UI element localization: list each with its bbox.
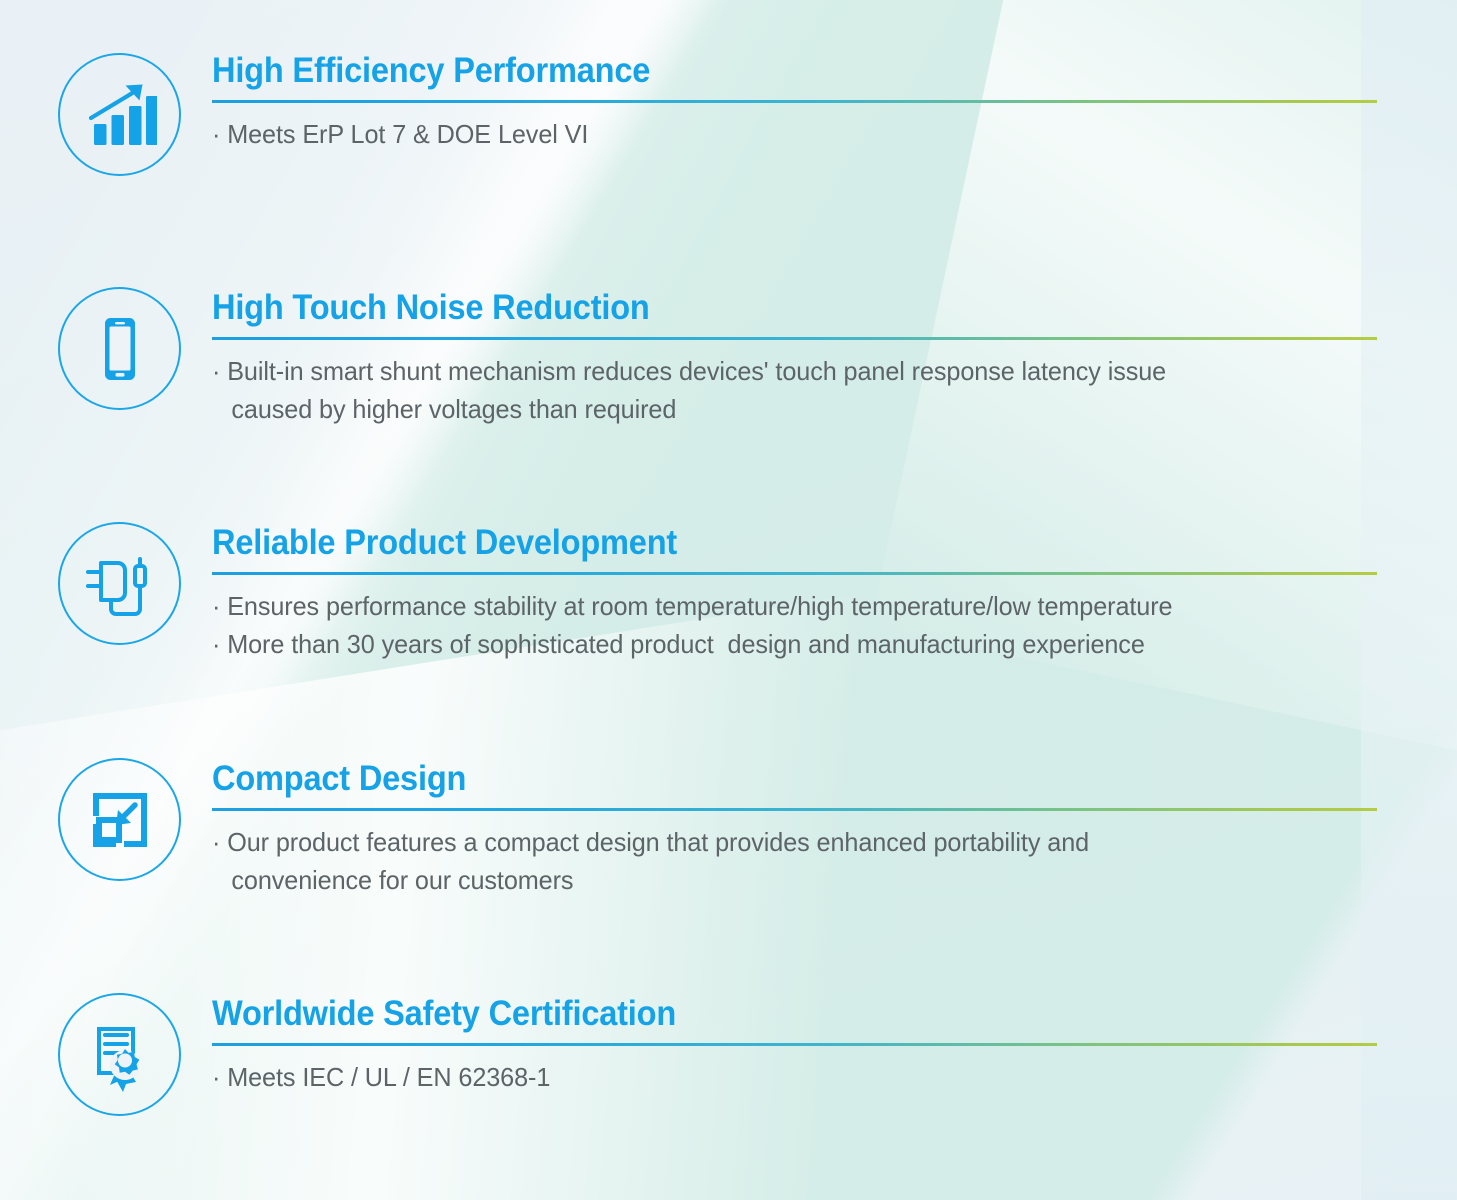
compact-resize-icon [58, 758, 181, 881]
feature-title: Compact Design [212, 758, 1295, 800]
feature-list: High Efficiency Performance · Meets ErP … [0, 0, 1457, 1200]
feature-description-line: · Our product features a compact design … [212, 823, 1342, 861]
feature-description-line: convenience for our customers [212, 861, 1342, 899]
feature-description-line: · More than 30 years of sophisticated pr… [212, 625, 1342, 663]
smartphone-icon [58, 287, 181, 410]
feature-description-line: · Ensures performance stability at room … [212, 587, 1342, 625]
feature-body: Compact Design · Our product features a … [212, 758, 1377, 899]
feature-description-line: · Meets IEC / UL / EN 62368-1 [212, 1058, 1342, 1096]
feature-description: · Our product features a compact design … [212, 823, 1342, 899]
feature-description: · Meets IEC / UL / EN 62368-1 [212, 1058, 1342, 1096]
feature-body: High Touch Noise Reduction · Built-in sm… [212, 287, 1377, 428]
feature-body: Reliable Product Development · Ensures p… [212, 522, 1377, 663]
feature-title: Worldwide Safety Certification [212, 993, 1295, 1035]
feature-description: · Built-in smart shunt mechanism reduces… [212, 352, 1342, 428]
feature-description: · Ensures performance stability at room … [212, 587, 1342, 663]
feature-body: High Efficiency Performance · Meets ErP … [212, 50, 1377, 153]
feature-divider [212, 100, 1377, 103]
feature-description: · Meets ErP Lot 7 & DOE Level VI [212, 115, 1342, 153]
feature-title: High Touch Noise Reduction [212, 287, 1295, 329]
feature-description-line: · Built-in smart shunt mechanism reduces… [212, 352, 1342, 390]
feature-description-line: · Meets ErP Lot 7 & DOE Level VI [212, 115, 1342, 153]
feature-divider [212, 337, 1377, 340]
feature-title: Reliable Product Development [212, 522, 1295, 564]
certificate-award-icon [58, 993, 181, 1116]
feature-body: Worldwide Safety Certification · Meets I… [212, 993, 1377, 1096]
feature-title: High Efficiency Performance [212, 50, 1295, 92]
power-adapter-icon [58, 522, 181, 645]
feature-divider [212, 808, 1377, 811]
feature-divider [212, 1043, 1377, 1046]
feature-divider [212, 572, 1377, 575]
feature-description-line: caused by higher voltages than required [212, 390, 1342, 428]
bar-chart-growth-icon [58, 53, 181, 176]
